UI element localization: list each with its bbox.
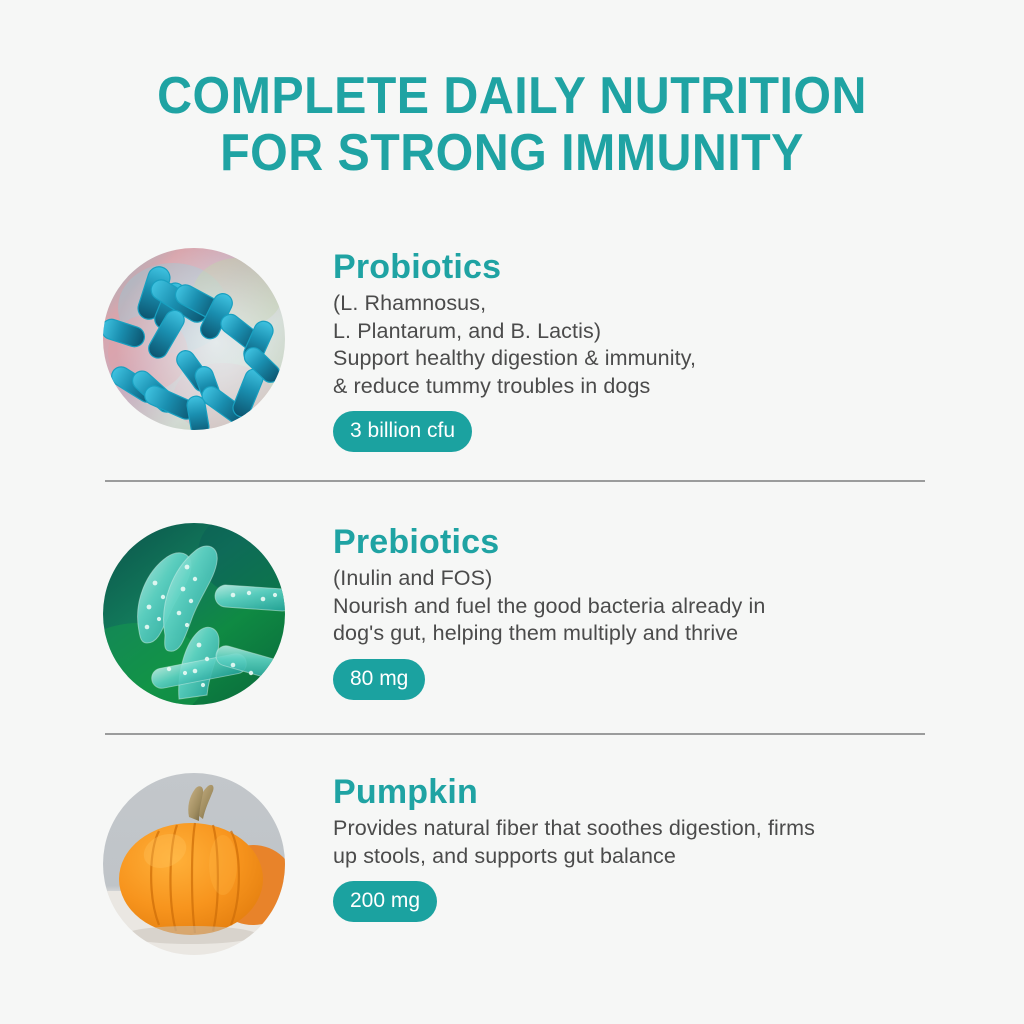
dosage-badge: 80 mg — [333, 659, 425, 700]
section-divider — [105, 480, 925, 482]
dosage-badge: 3 billion cfu — [333, 411, 472, 452]
section-divider — [105, 733, 925, 735]
pumpkin-photo — [103, 773, 285, 955]
page-title-line-2: FOR STRONG IMMUNITY — [36, 125, 988, 182]
ingredient-heading: Probiotics — [333, 248, 933, 286]
probiotic-bacteria-photo — [103, 248, 285, 430]
ingredient-text-prebiotics: Prebiotics (Inulin and FOS) Nourish and … — [333, 523, 933, 700]
ingredient-heading: Prebiotics — [333, 523, 933, 561]
ingredient-text-probiotics: Probiotics (L. Rhamnosus, L. Plantarum, … — [333, 248, 933, 452]
ingredient-description: Provides natural fiber that soothes dige… — [333, 815, 933, 870]
ingredient-text-pumpkin: Pumpkin Provides natural fiber that soot… — [333, 773, 933, 922]
nutrition-infographic: COMPLETE DAILY NUTRITION FOR STRONG IMMU… — [0, 0, 1024, 1024]
page-title: COMPLETE DAILY NUTRITION FOR STRONG IMMU… — [0, 68, 1024, 182]
ingredient-heading: Pumpkin — [333, 773, 933, 811]
dosage-badge: 200 mg — [333, 881, 437, 922]
prebiotic-bacteria-photo — [103, 523, 285, 705]
ingredient-description: (Inulin and FOS) Nourish and fuel the go… — [333, 565, 933, 648]
page-title-line-1: COMPLETE DAILY NUTRITION — [36, 68, 988, 125]
ingredient-description: (L. Rhamnosus, L. Plantarum, and B. Lact… — [333, 290, 933, 400]
